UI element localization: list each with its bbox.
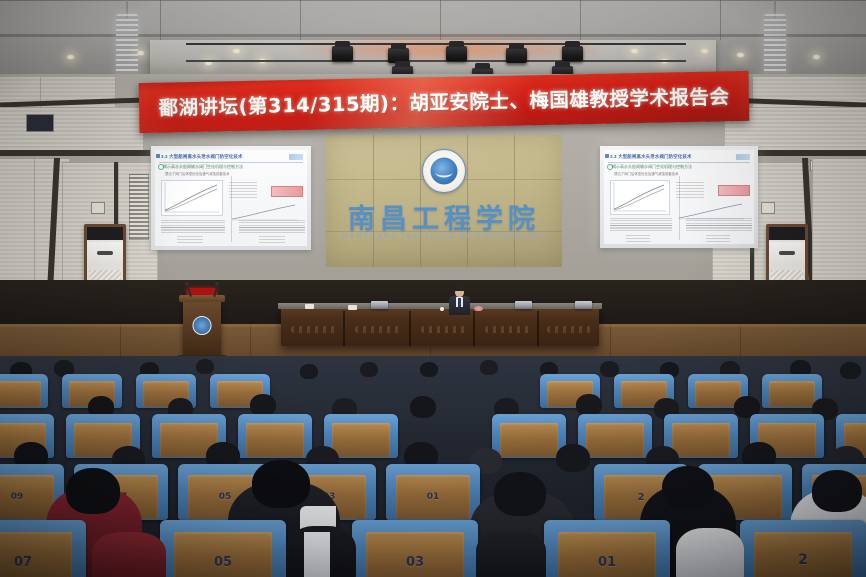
auditorium-photo: 南昌工程学院 NANCHANG INSTITUTE OF TECHNOLOGY … (0, 0, 866, 577)
nameplate (348, 305, 357, 310)
laptop (371, 301, 388, 309)
seat-number: 07 (0, 555, 86, 570)
audience-head (360, 362, 378, 377)
audience-head (556, 444, 590, 472)
slide-divider (159, 162, 303, 163)
seat-back-panel (0, 381, 41, 408)
wall-fixture (26, 114, 54, 132)
audience-head (840, 362, 861, 379)
slide-note-right (686, 218, 752, 232)
slide-title: 3.3 大型船闸高水头泄水阀门防空化技术 (610, 154, 692, 160)
lighting-truss (186, 60, 686, 62)
ac-top-panel (769, 227, 805, 240)
stage-spotlight (562, 46, 583, 61)
stage-spotlight (506, 48, 527, 63)
lectern-podium (183, 300, 221, 356)
seat-back-panel (672, 423, 730, 457)
ceiling-seam (300, 0, 301, 40)
ac-brand-logo (97, 251, 113, 255)
slide-note-left (161, 220, 225, 234)
downlight (232, 48, 241, 54)
stage-spotlight (446, 46, 467, 61)
wall-panel (0, 107, 144, 155)
slide-bullet-2: 提出了阀门后体型优化及通气减蚀成套技术 (165, 171, 229, 176)
downlight (812, 54, 821, 60)
audience-head (250, 394, 276, 416)
table-panel-seam (537, 311, 539, 346)
slide-square-icon (605, 154, 609, 158)
table-ornament (485, 326, 531, 333)
downlight (700, 48, 709, 54)
wall-switch[interactable] (91, 202, 105, 214)
seat-back-panel (332, 423, 390, 457)
ac-top-panel (87, 227, 123, 240)
slide-note-right (239, 220, 305, 234)
seat[interactable] (492, 414, 566, 458)
microphone-head (185, 282, 189, 285)
emblem-inner-disc (431, 158, 458, 185)
seat-back-panel (586, 423, 644, 457)
seat[interactable]: 01 (544, 520, 670, 577)
seat[interactable]: 2 (740, 520, 866, 577)
slide-highlight-box (271, 186, 303, 197)
university-emblem-icon (422, 149, 466, 193)
slide-logo (289, 154, 303, 160)
audience-head (410, 396, 436, 418)
audience-person-shirt (304, 532, 330, 577)
audience-person-torso (92, 532, 166, 577)
seat[interactable] (0, 374, 48, 408)
audience-head (576, 394, 602, 416)
speaker-tie (458, 298, 461, 307)
slide-content-left: 3.3 大型船闸高水头泄水阀门防空化技术 揭示高水头船闸输水阀门空化机理与控制方… (155, 150, 307, 246)
slide-equation-block (676, 182, 704, 199)
slide-note-left (610, 218, 672, 232)
nameplate (305, 304, 314, 309)
seat[interactable]: 05 (160, 520, 286, 577)
slide-bullet-1: 揭示高水头船闸输水阀门空化机理与控制方法 (612, 164, 692, 170)
slide-highlight-box (718, 185, 750, 196)
table-panel-seam (473, 311, 475, 346)
audience-head (300, 364, 318, 379)
center-wall-logo-panel: 南昌工程学院 NANCHANG INSTITUTE OF TECHNOLOGY (326, 135, 562, 267)
seat-number: 03 (352, 555, 478, 570)
ceiling-seam (160, 0, 161, 40)
wall-switch[interactable] (761, 202, 775, 214)
slide-curve-graph-2 (229, 202, 299, 222)
audience-head (480, 360, 498, 375)
audience-person-torso (476, 530, 546, 577)
downlight (66, 54, 75, 60)
audience-head (196, 359, 214, 374)
stage-spotlight (332, 46, 353, 61)
seat-number: 05 (160, 555, 286, 570)
laptop (575, 301, 592, 309)
slide-bullet-1: 揭示高水头船闸输水阀门空化机理与控制方法 (163, 164, 243, 170)
slide-logo (736, 154, 750, 160)
table-ornament (421, 326, 467, 333)
laptop (515, 301, 532, 309)
podium-desktop (179, 295, 225, 302)
podium-emblem-icon (193, 316, 212, 335)
slide-equation-block (229, 182, 257, 200)
slide-title: 3.3 大型船闸高水头泄水阀门防空化技术 (161, 154, 243, 160)
slide-bullet-2: 提出了阀门后体型优化及通气减蚀成套技术 (614, 171, 678, 176)
audience-head (420, 362, 438, 377)
table-ornament (291, 326, 337, 333)
event-banner-text: 鄱湖讲坛(第314/315期)：胡亚安院士、梅国雄教授学术报告会 (139, 80, 749, 121)
audience-head (66, 468, 120, 514)
table-ornament (355, 326, 401, 333)
ceiling (0, 0, 866, 78)
slide-formula (626, 235, 650, 243)
table-panel-seam (343, 311, 345, 346)
air-vent (129, 174, 149, 240)
seat[interactable]: 07 (0, 520, 86, 577)
audience-head (662, 466, 714, 510)
audience-seating-area: 09 07 05 03 01 2 (0, 356, 866, 577)
audience-person-torso (676, 528, 744, 577)
flower-arrangement (474, 306, 483, 311)
slide-square-icon (156, 154, 160, 158)
emblem-wave-mark (436, 168, 453, 178)
projection-screen-left: 3.3 大型船闸高水头泄水阀门防空化技术 揭示高水头船闸输水阀门空化机理与控制方… (151, 146, 311, 250)
ac-brand-logo (779, 251, 795, 255)
audience-head (812, 470, 862, 512)
ceiling-seam (720, 0, 721, 40)
institution-name-cn: 南昌工程学院 (326, 197, 562, 236)
seat-back-panel (500, 423, 558, 457)
downlight (736, 52, 745, 58)
slide-curve-graph (161, 180, 221, 214)
table-panel-seam (409, 311, 411, 346)
slide-content-right: 3.3 大型船闸高水头泄水阀门防空化技术 揭示高水头船闸输水阀门空化机理与控制方… (604, 150, 754, 244)
slide-curve-graph (610, 180, 668, 213)
audience-head (252, 460, 310, 508)
seat[interactable] (578, 414, 652, 458)
slide-formula (706, 235, 730, 243)
seat[interactable]: 03 (352, 520, 478, 577)
conference-table (281, 308, 599, 346)
slide-divider (608, 162, 750, 163)
seated-speaker (446, 287, 472, 315)
speaker-hair (455, 286, 465, 291)
lighting-truss (186, 43, 686, 45)
seat-number: 01 (386, 492, 480, 502)
downlight (630, 48, 639, 54)
wall-trim (0, 150, 150, 156)
projection-screen-right: 3.3 大型船闸高水头泄水阀门防空化技术 揭示高水头船闸输水阀门空化机理与控制方… (600, 146, 758, 248)
seat-back-panel (246, 423, 304, 457)
seat[interactable]: 01 (386, 464, 480, 520)
ceiling-seam (580, 0, 581, 40)
slide-formula (177, 236, 203, 244)
table-ornament (547, 326, 591, 333)
institution-name-en: NANCHANG INSTITUTE OF TECHNOLOGY (326, 233, 562, 240)
teacup (440, 307, 444, 311)
seat[interactable] (238, 414, 312, 458)
microphone-head (215, 282, 219, 285)
seat-number: 2 (740, 552, 866, 568)
ceiling-seam (440, 0, 441, 40)
seat-back-panel (769, 381, 816, 408)
slide-formula (259, 236, 285, 244)
seat-number: 01 (544, 555, 670, 570)
ceiling-seam (0, 0, 866, 1)
audience-head (494, 472, 546, 516)
